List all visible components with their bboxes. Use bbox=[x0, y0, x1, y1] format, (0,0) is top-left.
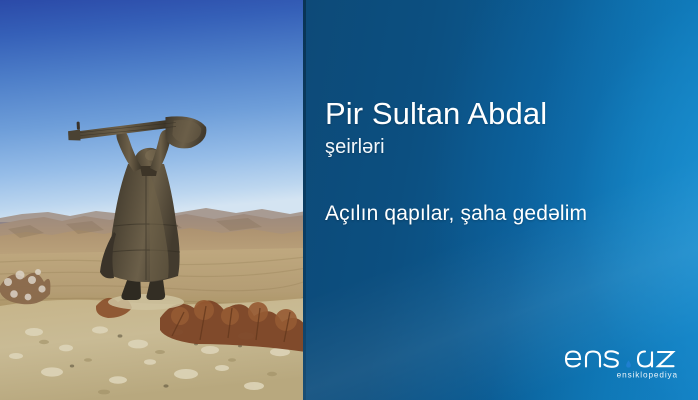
panel-left-edge-shadow bbox=[303, 0, 306, 400]
statue-photo bbox=[0, 0, 306, 400]
page-title: Pir Sultan Abdal bbox=[325, 96, 685, 132]
logo-dot-icon bbox=[626, 360, 631, 367]
text-block: Pir Sultan Abdal şeirləri Açılın qapılar… bbox=[325, 96, 685, 227]
logo-tagline: ensiklopediya bbox=[617, 371, 678, 380]
share-card: Pir Sultan Abdal şeirləri Açılın qapılar… bbox=[0, 0, 698, 400]
page-subtitle: şeirləri bbox=[325, 135, 685, 159]
text-panel: Pir Sultan Abdal şeirləri Açılın qapılar… bbox=[303, 0, 698, 400]
ens-az-logo[interactable]: ensiklopediya bbox=[562, 338, 680, 382]
ens-az-logo-mark: ensiklopediya bbox=[562, 338, 680, 382]
poem-title: Açılın qapılar, şaha gedəlim bbox=[325, 201, 685, 227]
statue-photo-illustration bbox=[0, 0, 306, 400]
